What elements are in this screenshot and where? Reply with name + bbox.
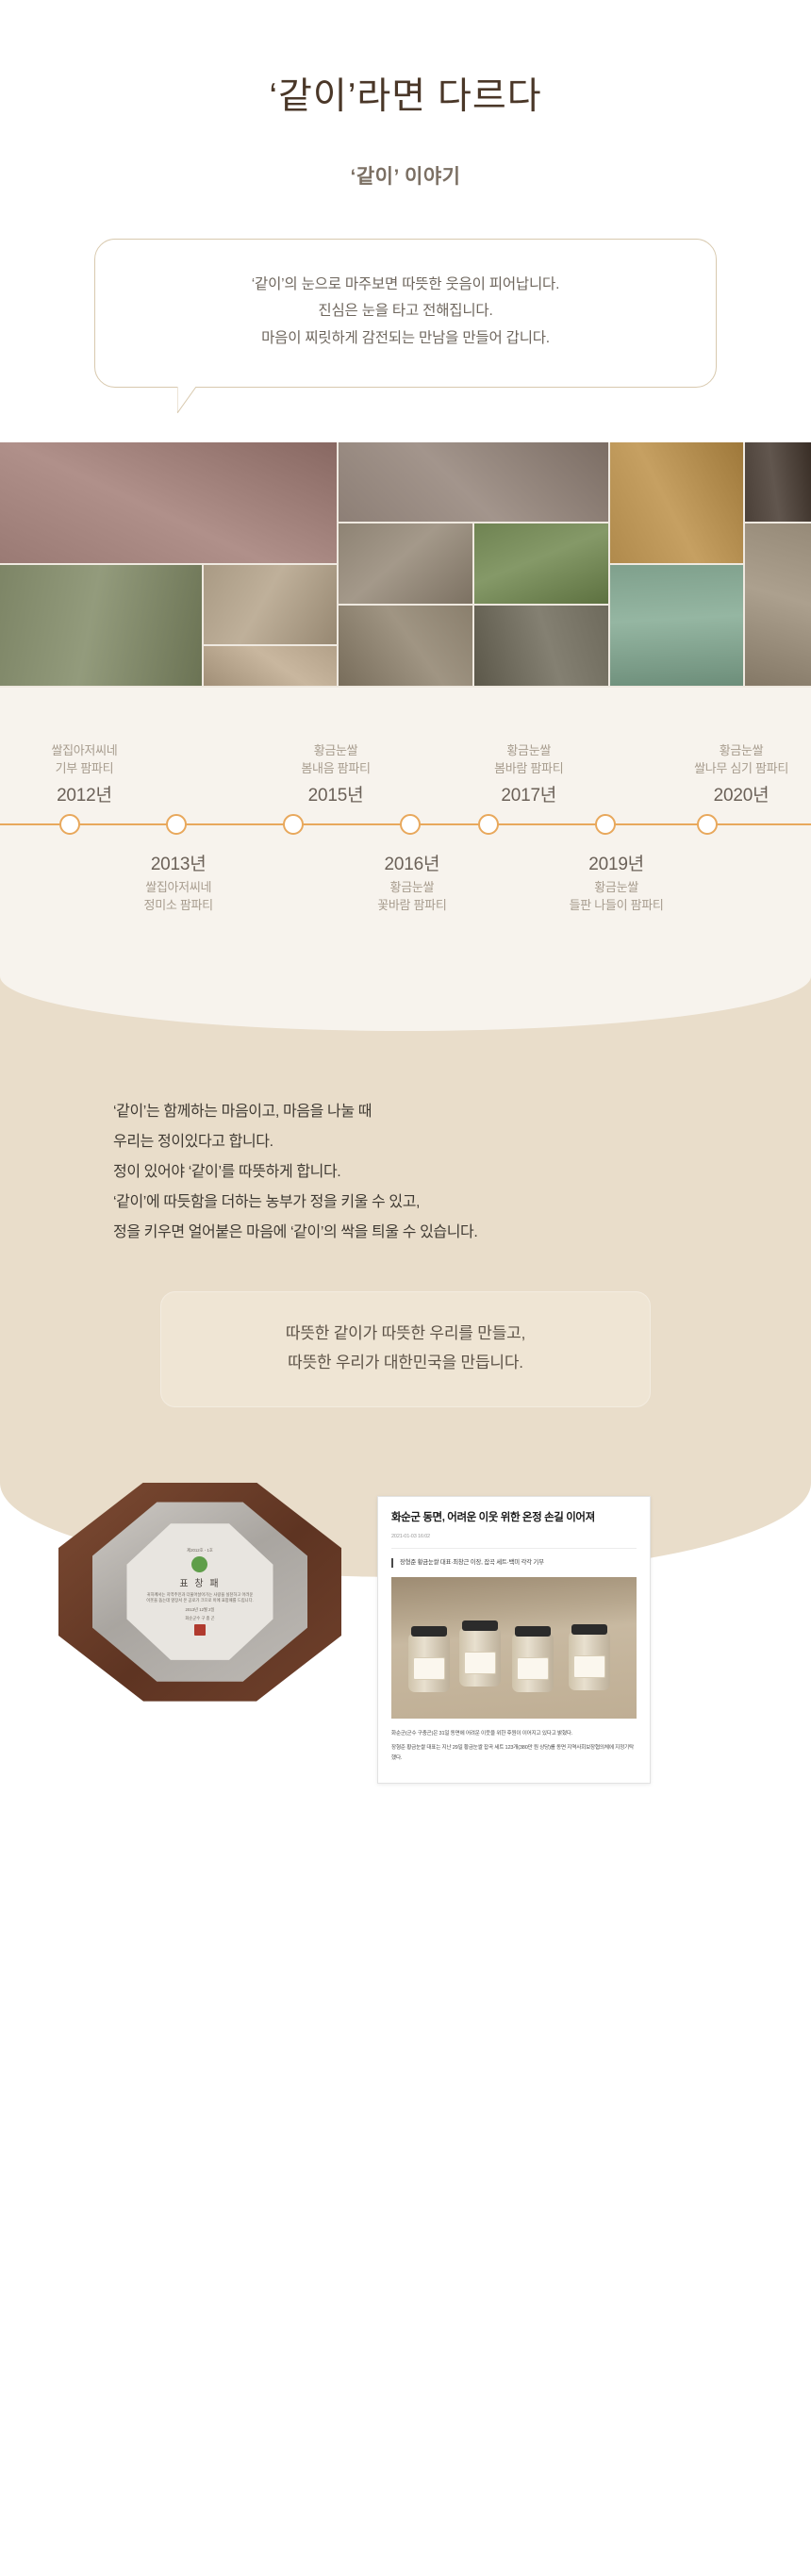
timeline-event-label: 쌀집아저씨네기부 팜파티	[0, 741, 174, 778]
story-line-3: 정이 있어야 ‘같이’를 따뜻하게 합니다.	[113, 1157, 698, 1188]
timeline-axis	[0, 810, 811, 839]
quote-line-2: 따뜻한 우리가 대한민국을 만듭니다.	[180, 1348, 631, 1377]
grain-jar-left	[408, 1634, 450, 1692]
timeline-year-label: 2019년	[527, 850, 706, 875]
timeline-event-label: 황금눈쌀들판 나들이 팜파티	[527, 878, 706, 915]
timeline-dot-2[interactable]	[283, 814, 304, 835]
plaque-frame: 제2012호 - 1호 표 창 패 귀하께서는 지역주민과 더불어살아가는 사랑…	[58, 1483, 341, 1702]
plaque-top-small: 제2012호 - 1호	[144, 1548, 256, 1554]
story-inner: ‘같이’는 함께하는 마음이고, 마음을 나눌 때 우리는 정이있다고 합니다.…	[0, 1031, 811, 1407]
timeline-top-row: 쌀집아저씨네기부 팜파티2012년황금눈쌀봄내음 팜파티2015년황금눈쌀봄바람…	[0, 725, 811, 806]
quote-box: 따뜻한 같이가 따뜻한 우리를 만들고, 따뜻한 우리가 대한민국을 만듭니다.	[160, 1291, 651, 1407]
news-divider	[391, 1548, 637, 1549]
timeline-year-label: 2013년	[89, 850, 268, 875]
photo-farmer-and-child	[0, 442, 337, 563]
photo-family-table	[339, 524, 472, 604]
speech-bubble-tail-icon	[177, 387, 206, 413]
news-timestamp: 2021-01-03 16:02	[391, 1534, 637, 1539]
timeline-dot-4[interactable]	[478, 814, 499, 835]
grain-jar-far-right	[569, 1632, 610, 1690]
photo-rice-cart	[745, 524, 811, 685]
photo-collage	[0, 442, 811, 688]
plaque-date: 2013년 12월 2일	[144, 1607, 256, 1613]
red-seal-icon	[194, 1624, 206, 1636]
jar-label-far-right	[573, 1655, 605, 1678]
grain-jar-right	[512, 1634, 554, 1692]
timeline-year-label: 2020년	[652, 781, 811, 806]
plaque-metal-plate: 제2012호 - 1호 표 창 패 귀하께서는 지역주민과 더불어살아가는 사랑…	[92, 1502, 307, 1681]
story-line-1: ‘같이’는 함께하는 마음이고, 마음을 나눌 때	[113, 1097, 698, 1127]
story-line-4: ‘같이’에 따듯함을 더하는 농부가 정을 키울 수 있고,	[113, 1188, 698, 1218]
bubble-line-3: 마음이 찌릿하게 감전되는 만남을 만들어 갑니다.	[124, 325, 687, 353]
jar-label-center	[464, 1652, 496, 1674]
timeline-event-label: 황금눈쌀쌀나무 심기 팜파티	[652, 741, 811, 778]
timeline-year-label: 2012년	[0, 781, 174, 806]
bubble-line-1: ‘같이’의 눈으로 마주보면 따뜻한 웃음이 피어납니다.	[124, 272, 687, 299]
photo-hanbok-girl	[610, 565, 744, 686]
story-line-2: 우리는 정이있다고 합니다.	[113, 1127, 698, 1157]
photo-kids-drawing	[0, 565, 202, 686]
story-line-5: 정을 키우면 얼어붙은 마음에 ‘같이’의 싹을 틔울 수 있습니다.	[113, 1218, 698, 1248]
photo-market-stall	[204, 565, 338, 645]
grain-jar-center	[459, 1628, 501, 1687]
news-body: 화순군(군수 구충곤)은 31일 동면에 어려운 이웃을 위한 후원이 이어지고…	[391, 1729, 637, 1763]
photo-outdoor-lunch	[339, 606, 472, 686]
timeline-top-item-0: 쌀집아저씨네기부 팜파티2012년	[0, 741, 174, 806]
timeline-dot-0[interactable]	[59, 814, 80, 835]
timeline-dot-1[interactable]	[166, 814, 187, 835]
story-paragraph: ‘같이’는 함께하는 마음이고, 마음을 나눌 때 우리는 정이있다고 합니다.…	[113, 1097, 698, 1248]
photo-black-pig	[745, 442, 811, 523]
timeline-top-item-1: 황금눈쌀봄내음 팜파티2015년	[246, 741, 425, 806]
plaque-issuer: 화순군수 구 충 곤	[144, 1616, 256, 1621]
timeline-bottom-item-1: 2016년황금눈쌀꽃바람 팜파티	[323, 850, 502, 915]
timeline-bottom-item-0: 2013년쌀집아저씨네정미소 팜파티	[89, 850, 268, 915]
photo-boy-green-shirt	[474, 524, 608, 604]
timeline-year-label: 2016년	[323, 850, 502, 875]
timeline-section: 쌀집아저씨네기부 팜파티2012년황금눈쌀봄내음 팜파티2015년황금눈쌀봄바람…	[0, 688, 811, 971]
news-body-p1: 화순군(군수 구충곤)은 31일 동면에 어려운 이웃을 위한 후원이 이어지고…	[391, 1729, 637, 1738]
green-leaf-emblem-icon	[191, 1556, 207, 1572]
speech-bubble: ‘같이’의 눈으로 마주보면 따뜻한 웃음이 피어납니다. 진심은 눈을 타고 …	[94, 239, 717, 388]
jar-label-left	[413, 1657, 445, 1680]
timeline-year-label: 2017년	[439, 781, 619, 806]
plaque-body-text: 귀하께서는 지역주민과 더불어살아가는 사랑을 실천하고 어려운 이웃을 돕는데…	[144, 1592, 256, 1604]
news-photo	[391, 1577, 637, 1719]
timeline-bottom-row: 2013년쌀집아저씨네정미소 팜파티2016년황금눈쌀꽃바람 팜파티2019년황…	[0, 844, 811, 925]
photo-children-crowd	[339, 442, 607, 523]
plaque-heading: 표 창 패	[179, 1575, 220, 1589]
timeline-bottom-item-2: 2019년황금눈쌀들판 나들이 팜파티	[527, 850, 706, 915]
news-caption: 장형준 황금눈쌀 대표·최창근 이장, 잡곡 세트·백미 각각 기부	[391, 1558, 637, 1568]
story-top-curve	[0, 971, 811, 1031]
timeline-year-label: 2015년	[246, 781, 425, 806]
award-plaque: 제2012호 - 1호 표 창 패 귀하께서는 지역주민과 더불어살아가는 사랑…	[58, 1483, 351, 1709]
bubble-line-2: 진심은 눈을 타고 전해집니다.	[124, 298, 687, 325]
photo-food-tray	[204, 646, 338, 685]
story-section: ‘같이’는 함께하는 마음이고, 마음을 나눌 때 우리는 정이있다고 합니다.…	[0, 971, 811, 1464]
news-body-p2: 장형준 황금눈쌀 대표는 지난 29일 황금눈쌀 잡곡 세트 123개(380만…	[391, 1743, 637, 1763]
page-title: ‘같이’라면 다르다	[0, 74, 811, 122]
timeline-event-label: 황금눈쌀봄바람 팜파티	[439, 741, 619, 778]
timeline-dot-5[interactable]	[595, 814, 616, 835]
news-article-card[interactable]: 화순군 동면, 어려운 이웃 위한 온정 손길 이어져 2021-01-03 1…	[377, 1496, 651, 1784]
jar-label-right	[517, 1657, 549, 1680]
hero-section: ‘같이’라면 다르다 ‘같이’ 이야기	[0, 0, 811, 190]
timeline-event-label: 황금눈쌀꽃바람 팜파티	[323, 878, 502, 915]
photo-group-seated	[474, 606, 608, 686]
photo-woman-yellow-coat	[610, 442, 744, 563]
plaque-inner-panel: 제2012호 - 1호 표 창 패 귀하께서는 지역주민과 더불어살아가는 사랑…	[126, 1523, 273, 1660]
timeline-dot-3[interactable]	[400, 814, 421, 835]
timeline-dot-6[interactable]	[697, 814, 718, 835]
timeline-event-label: 쌀집아저씨네정미소 팜파티	[89, 878, 268, 915]
quote-line-1: 따뜻한 같이가 따뜻한 우리를 만들고,	[180, 1319, 631, 1348]
timeline-event-label: 황금눈쌀봄내음 팜파티	[246, 741, 425, 778]
news-headline: 화순군 동면, 어려운 이웃 위한 온정 손길 이어져	[391, 1510, 637, 1526]
page-subtitle: ‘같이’ 이야기	[0, 161, 811, 190]
speech-bubble-wrapper: ‘같이’의 눈으로 마주보면 따뜻한 웃음이 피어납니다. 진심은 눈을 타고 …	[94, 239, 717, 388]
timeline-top-item-2: 황금눈쌀봄바람 팜파티2017년	[439, 741, 619, 806]
timeline-top-item-3: 황금눈쌀쌀나무 심기 팜파티2020년	[652, 741, 811, 806]
bottom-section: 제2012호 - 1호 표 창 패 귀하께서는 지역주민과 더불어살아가는 사랑…	[0, 1464, 811, 1907]
